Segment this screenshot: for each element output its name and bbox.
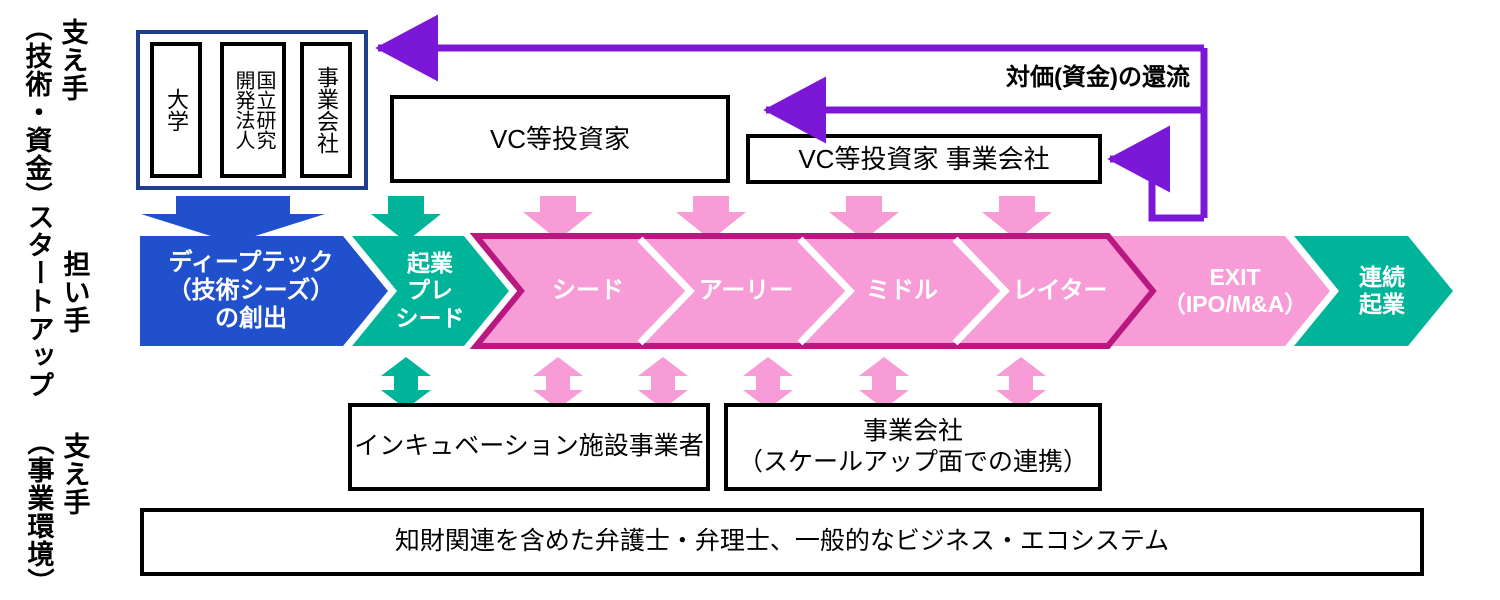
- stage-label-serial-text: 連続 起業: [1359, 264, 1405, 318]
- stage-label-early-text: アーリー: [699, 277, 794, 305]
- box-operating-company-scaleup-label: 事業会社 （スケールアップ面での連携）: [738, 416, 1088, 479]
- stage-label-pre-seed-text: 起業 プレ シード: [396, 250, 465, 331]
- bidir-arrow-middle: [859, 357, 909, 409]
- bidir-arrow-seed-b: [638, 357, 688, 409]
- box-operating-company-scaleup[interactable]: 事業会社 （スケールアップ面での連携）: [724, 403, 1102, 491]
- stage-label-pre-seed: 起業 プレ シード: [383, 236, 477, 346]
- stage-label-later-text: レイター: [1012, 277, 1107, 305]
- stage-label-middle-text: ミドル: [866, 277, 938, 305]
- box-business-ecosystem-label: 知財関連を含めた弁護士・弁理士、一般的なビジネス・エコシステム: [395, 526, 1169, 557]
- diagram-canvas: 支え手 （技術・資金） 担い手 スタートアップ 支え手 （事業環境） 大学 国立…: [0, 0, 1500, 600]
- stage-label-seed-text: シード: [552, 277, 624, 305]
- bidir-arrow-seed-a: [533, 357, 583, 409]
- box-incubation-facility[interactable]: インキュベーション施設事業者: [348, 403, 710, 491]
- bidir-arrow-early: [743, 357, 793, 409]
- stage-label-deep-tech-text: ディープテック （技術シーズ） の創出: [168, 249, 335, 334]
- bidir-arrow-later: [996, 357, 1046, 409]
- stage-label-deep-tech: ディープテック （技術シーズ） の創出: [146, 236, 356, 346]
- stage-label-exit-text: EXIT （IPO/M&A）: [1163, 264, 1307, 318]
- bidir-arrow-preseed: [381, 357, 431, 409]
- box-business-ecosystem[interactable]: 知財関連を含めた弁護士・弁理士、一般的なビジネス・エコシステム: [140, 508, 1424, 576]
- box-incubation-facility-label: インキュベーション施設事業者: [354, 431, 704, 462]
